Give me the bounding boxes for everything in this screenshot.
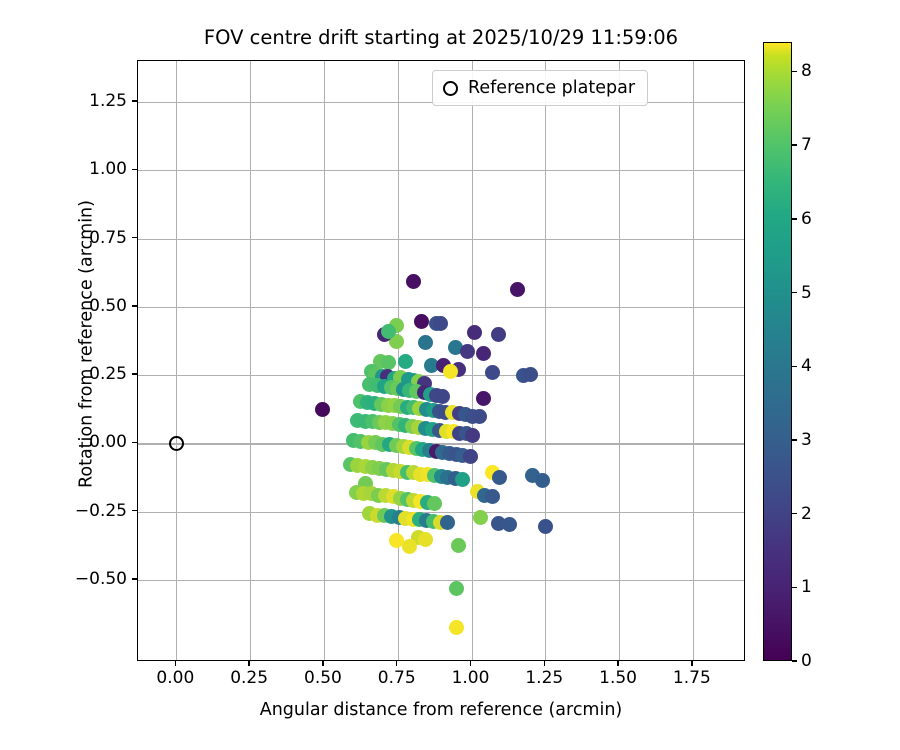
scatter-point <box>535 473 550 488</box>
scatter-point <box>510 282 525 297</box>
colorbar-tick-label: 5 <box>801 283 812 303</box>
colorbar-gradient <box>763 42 792 661</box>
gridline-horizontal <box>138 239 744 240</box>
scatter-point <box>538 519 553 534</box>
gridline-vertical <box>250 61 251 660</box>
gridline-horizontal <box>138 580 744 581</box>
x-tick-label: 1.00 <box>452 668 490 688</box>
legend: Reference platepar <box>432 70 648 106</box>
y-tick-mark <box>132 373 137 374</box>
scatter-point <box>492 470 507 485</box>
x-tick-mark <box>248 661 249 666</box>
scatter-point <box>455 472 470 487</box>
scatter-point <box>440 515 455 530</box>
gridline-vertical <box>176 61 177 660</box>
colorbar-tick-mark <box>792 71 797 72</box>
scatter-point <box>414 314 429 329</box>
scatter-point <box>467 325 482 340</box>
scatter-point <box>402 539 417 554</box>
y-tick-mark <box>132 442 137 443</box>
y-tick-mark <box>132 578 137 579</box>
x-tick-label: 0.25 <box>230 668 268 688</box>
colorbar-tick-label: 1 <box>801 577 812 597</box>
x-tick-label: 1.25 <box>525 668 563 688</box>
scatter-point <box>451 538 466 553</box>
colorbar <box>763 42 792 661</box>
x-tick-mark <box>322 661 323 666</box>
x-tick-label: 0.50 <box>304 668 342 688</box>
y-tick-mark <box>132 305 137 306</box>
scatter-point <box>449 581 464 596</box>
colorbar-tick-mark <box>792 587 797 588</box>
colorbar-tick-mark <box>792 513 797 514</box>
gridline-vertical <box>545 61 546 660</box>
scatter-point <box>485 489 500 504</box>
scatter-point <box>491 327 506 342</box>
scatter-point <box>476 391 491 406</box>
x-tick-label: 0.75 <box>378 668 416 688</box>
legend-item-label: Reference platepar <box>468 78 635 98</box>
gridline-horizontal <box>138 512 744 513</box>
gridline-horizontal <box>138 307 744 308</box>
scatter-point <box>315 402 330 417</box>
x-tick-mark <box>544 661 545 666</box>
scatter-point <box>473 510 488 525</box>
scatter-point <box>433 316 448 331</box>
scatter-point <box>523 367 538 382</box>
scatter-point <box>476 346 491 361</box>
x-tick-label: 0.00 <box>156 668 194 688</box>
chart-figure: FOV centre drift starting at 2025/10/29 … <box>0 0 900 750</box>
colorbar-tick-mark <box>792 366 797 367</box>
y-axis-label: Rotation from reference (arcmin) <box>77 44 97 645</box>
scatter-point <box>502 517 517 532</box>
scatter-point <box>406 274 421 289</box>
x-tick-mark <box>691 661 692 666</box>
x-tick-label: 1.75 <box>673 668 711 688</box>
x-tick-mark <box>470 661 471 666</box>
gridline-horizontal <box>138 375 744 376</box>
colorbar-tick-label: 2 <box>801 504 812 524</box>
x-axis-label: Angular distance from reference (arcmin) <box>137 700 745 720</box>
colorbar-tick-label: 6 <box>801 209 812 229</box>
gridline-vertical <box>693 61 694 660</box>
colorbar-tick-mark <box>792 218 797 219</box>
scatter-point <box>443 364 458 379</box>
colorbar-tick-mark <box>792 439 797 440</box>
gridline-vertical <box>472 61 473 660</box>
page-title: FOV centre drift starting at 2025/10/29 … <box>137 26 745 49</box>
colorbar-tick-mark <box>792 292 797 293</box>
colorbar-tick-label: 8 <box>801 61 812 81</box>
y-tick-mark <box>132 100 137 101</box>
scatter-point <box>427 496 442 511</box>
colorbar-tick-label: 4 <box>801 356 812 376</box>
x-tick-label: 1.50 <box>599 668 637 688</box>
reference-platepar-marker <box>169 436 184 451</box>
y-tick-mark <box>132 510 137 511</box>
plot-area <box>137 60 745 661</box>
gridline-vertical <box>619 61 620 660</box>
colorbar-tick-label: 3 <box>801 430 812 450</box>
gridline-vertical <box>324 61 325 660</box>
scatter-point <box>463 449 478 464</box>
scatter-point <box>460 344 475 359</box>
scatter-point <box>435 389 450 404</box>
scatter-point <box>398 354 413 369</box>
scatter-point <box>449 620 464 635</box>
x-tick-mark <box>175 661 176 666</box>
scatter-point <box>418 335 433 350</box>
scatter-point <box>418 532 433 547</box>
y-tick-mark <box>132 237 137 238</box>
scatter-point <box>485 365 500 380</box>
x-tick-mark <box>617 661 618 666</box>
x-tick-mark <box>396 661 397 666</box>
colorbar-tick-mark <box>792 660 797 661</box>
y-tick-mark <box>132 169 137 170</box>
gridline-horizontal <box>138 170 744 171</box>
colorbar-tick-label: 7 <box>801 135 812 155</box>
scatter-point <box>472 409 487 424</box>
colorbar-tick-mark <box>792 144 797 145</box>
legend-circle-icon <box>443 81 458 96</box>
colorbar-tick-label: 0 <box>801 651 812 671</box>
scatter-point <box>465 428 480 443</box>
